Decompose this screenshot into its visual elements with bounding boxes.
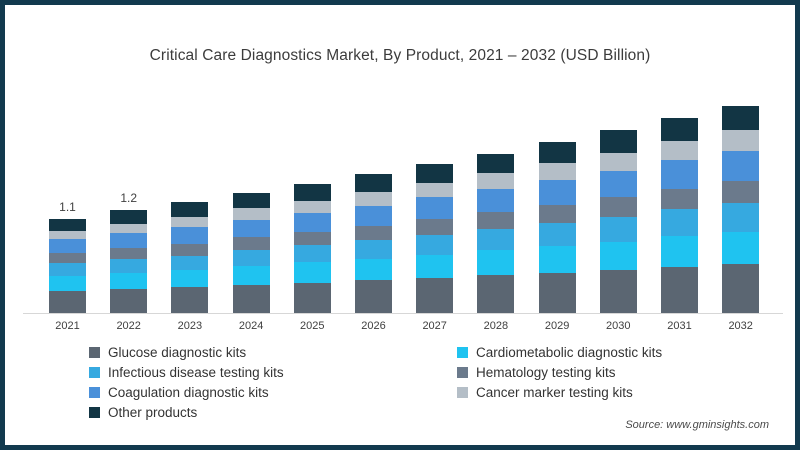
bar-segment [294, 283, 331, 313]
x-axis-tick-2021: 2021 [38, 320, 98, 332]
x-axis-line [23, 313, 783, 314]
bar-segment [355, 192, 392, 206]
bar-segment [233, 250, 270, 266]
bar-segment [171, 217, 208, 227]
plot-area: 1.11.2 [35, 90, 770, 313]
bar-segment [477, 250, 514, 275]
bar-segment [416, 197, 453, 218]
bar-column [294, 184, 331, 313]
bar-stack [661, 118, 698, 313]
bar-segment [49, 253, 86, 263]
bar-segment [661, 160, 698, 188]
x-axis-tick-2026: 2026 [344, 320, 404, 332]
legend-swatch-icon [89, 367, 100, 378]
bar-segment [661, 267, 698, 313]
bar-stack [49, 219, 86, 313]
bar-segment [233, 208, 270, 219]
bar-segment [49, 219, 86, 231]
bar-segment [355, 206, 392, 226]
legend-item[interactable]: Cardiometabolic diagnostic kits [457, 343, 662, 362]
bar-segment [722, 130, 759, 151]
x-axis-tick-2025: 2025 [282, 320, 342, 332]
bar-segment [355, 174, 392, 192]
legend-item[interactable]: Infectious disease testing kits [89, 363, 284, 382]
page-title: Critical Care Diagnostics Market, By Pro… [5, 47, 795, 65]
bar-segment [294, 245, 331, 262]
bar-segment [600, 270, 637, 313]
bar-stack [477, 154, 514, 313]
source-attribution: Source: www.gminsights.com [625, 419, 769, 431]
bar-stack [539, 142, 576, 313]
bar-segment [416, 235, 453, 255]
bar-segment [49, 239, 86, 253]
bar-column [600, 130, 637, 313]
bar-segment [600, 197, 637, 217]
legend-swatch-icon [457, 387, 468, 398]
legend-item[interactable]: Other products [89, 403, 284, 422]
bar-stack [355, 174, 392, 313]
legend-swatch-icon [457, 367, 468, 378]
bar-stack [110, 210, 147, 313]
bar-segment [722, 232, 759, 265]
legend-swatch-icon [89, 387, 100, 398]
bar-column [171, 202, 208, 313]
bar-segment [539, 273, 576, 313]
bar-segment [722, 264, 759, 313]
legend-label: Hematology testing kits [476, 365, 616, 380]
bar-column [355, 174, 392, 313]
bar-segment [661, 189, 698, 210]
bar-segment [539, 142, 576, 163]
bar-column [477, 154, 514, 313]
bar-segment [294, 213, 331, 232]
bar-segment [110, 224, 147, 233]
bar-stack [600, 130, 637, 313]
bar-segment [294, 262, 331, 283]
bar-segment [49, 276, 86, 291]
bar-stack [294, 184, 331, 313]
legend-swatch-icon [457, 347, 468, 358]
bar-segment [233, 285, 270, 313]
bar-segment [600, 242, 637, 270]
bar-column [722, 106, 759, 314]
bar-segment [171, 287, 208, 313]
x-axis-tick-2024: 2024 [221, 320, 281, 332]
bar-column: 1.2 [110, 210, 147, 313]
legend-label: Glucose diagnostic kits [108, 345, 246, 360]
x-axis-tick-2030: 2030 [588, 320, 648, 332]
bar-segment [416, 164, 453, 183]
x-axis-tick-labels: 2021202220232024202520262027202820292030… [35, 318, 770, 338]
bar-segment [233, 237, 270, 250]
x-axis-tick-2031: 2031 [650, 320, 710, 332]
legend-item[interactable]: Cancer marker testing kits [457, 383, 662, 402]
bar-segment [600, 153, 637, 171]
bar-stack [233, 193, 270, 313]
bar-segment [539, 163, 576, 180]
bar-segment [171, 244, 208, 256]
bar-segment [539, 205, 576, 223]
bar-segment [661, 141, 698, 161]
bar-segment [600, 217, 637, 242]
bar-segment [416, 183, 453, 198]
bar-segment [171, 227, 208, 243]
bar-column [661, 118, 698, 313]
bar-segment [233, 266, 270, 285]
bar-segment [539, 180, 576, 205]
bar-segment [539, 223, 576, 246]
bar-segment [600, 171, 637, 198]
bar-segment [294, 184, 331, 200]
x-axis-tick-2028: 2028 [466, 320, 526, 332]
bar-segment [355, 259, 392, 280]
bar-segment [110, 259, 147, 273]
bar-segment [477, 173, 514, 188]
bar-segment [661, 118, 698, 140]
bar-segment [416, 255, 453, 278]
legend-label: Cancer marker testing kits [476, 385, 633, 400]
bar-segment [171, 202, 208, 217]
bar-segment [661, 209, 698, 236]
bar-segment [722, 151, 759, 181]
bar-segment [539, 246, 576, 273]
bar-segment [49, 291, 86, 313]
bar-segment [600, 130, 637, 152]
bar-segment [233, 220, 270, 237]
x-axis-tick-2029: 2029 [527, 320, 587, 332]
legend-column-right: Cardiometabolic diagnostic kitsHematolog… [457, 343, 662, 403]
bar-segment [416, 278, 453, 313]
bar-stack [171, 202, 208, 313]
bar-segment [294, 201, 331, 213]
bar-segment [477, 212, 514, 229]
legend-label: Other products [108, 405, 197, 420]
legend-label: Infectious disease testing kits [108, 365, 284, 380]
legend-item[interactable]: Glucose diagnostic kits [89, 343, 284, 362]
bar-segment [110, 210, 147, 224]
bar-column: 1.1 [49, 219, 86, 313]
bar-segment [477, 189, 514, 212]
bar-segment [171, 256, 208, 271]
chart-frame: Critical Care Diagnostics Market, By Pro… [0, 0, 800, 450]
legend-swatch-icon [89, 347, 100, 358]
bar-segment [294, 232, 331, 246]
bar-segment [416, 219, 453, 235]
bar-value-label: 1.1 [38, 200, 98, 214]
legend-column-left: Glucose diagnostic kitsInfectious diseas… [89, 343, 284, 423]
bar-segment [355, 240, 392, 259]
bar-segment [110, 273, 147, 289]
bar-segment [722, 106, 759, 130]
legend-item[interactable]: Hematology testing kits [457, 363, 662, 382]
x-axis-tick-2027: 2027 [405, 320, 465, 332]
bar-column [233, 193, 270, 313]
legend-swatch-icon [89, 407, 100, 418]
bar-segment [661, 236, 698, 267]
bar-segment [355, 280, 392, 313]
legend-item[interactable]: Coagulation diagnostic kits [89, 383, 284, 402]
bar-segment [477, 229, 514, 250]
bar-segment [110, 289, 147, 313]
bar-segment [722, 181, 759, 203]
bar-segment [49, 263, 86, 276]
bar-column [539, 142, 576, 313]
bar-value-label: 1.2 [99, 191, 159, 205]
x-axis-tick-2023: 2023 [160, 320, 220, 332]
bar-segment [110, 248, 147, 259]
bar-segment [477, 154, 514, 174]
bar-segment [355, 226, 392, 241]
bar-segment [110, 233, 147, 248]
bar-segment [477, 275, 514, 313]
bar-stack [416, 164, 453, 313]
x-axis-tick-2032: 2032 [711, 320, 771, 332]
legend-label: Cardiometabolic diagnostic kits [476, 345, 662, 360]
bar-segment [171, 270, 208, 287]
x-axis-tick-2022: 2022 [99, 320, 159, 332]
bar-segment [49, 231, 86, 240]
bar-segment [722, 203, 759, 231]
bar-segment [233, 193, 270, 208]
chart-canvas: Critical Care Diagnostics Market, By Pro… [5, 5, 795, 445]
bar-column [416, 164, 453, 313]
legend-label: Coagulation diagnostic kits [108, 385, 269, 400]
bar-stack [722, 106, 759, 314]
